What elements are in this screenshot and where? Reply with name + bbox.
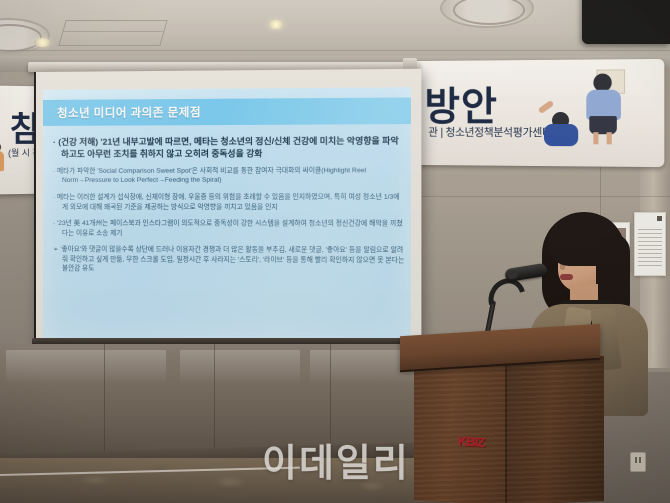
projection-screen: 청소년 미디어 과의존 문제점 · (건강 저해) '21년 내부고발에 따르면…: [36, 69, 421, 348]
banner-illustration-icon: [530, 67, 627, 160]
slide-bullet: ➢ '좋아요'와 댓글이 많을수록 상단에 드러나 이용자간 경쟁과 더 많은 …: [53, 245, 405, 275]
podium-front-left: [414, 357, 508, 503]
power-outlet-icon: [630, 452, 646, 472]
slide-title-text: 청소년 미디어 과의존 문제점: [57, 104, 201, 121]
podium-front-right: [506, 356, 604, 503]
event-banner-right: 방안 관 | 청소년정책분석평가센터: [415, 59, 664, 167]
ceiling-seam: [0, 50, 670, 51]
presentation-slide: 청소년 미디어 과의존 문제점 · (건강 저해) '21년 내부고발에 따르면…: [43, 87, 411, 341]
ceiling-access-panel: [58, 20, 167, 46]
wall-seam: [398, 196, 670, 197]
slide-bullet: · (건강 저해) '21년 내부고발에 따르면, 메타는 청소년의 정신/신체…: [53, 134, 405, 161]
ceiling-light-icon: [268, 20, 284, 29]
ceiling-vent-icon: [440, 0, 534, 28]
slide-bullet: · '23년 美 41개州는 페이스북과 인스타그램이 의도적으로 중독성이 강…: [53, 219, 405, 239]
slide-title-bar: 청소년 미디어 과의존 문제점: [43, 97, 411, 125]
ceiling-vent-icon: [0, 18, 50, 54]
banner-person-icon: [0, 142, 4, 172]
slide-bullet: · 메타는 이러한 설계가 섭식장애, 신체이형 장애, 우울증 등의 위험을 …: [53, 193, 405, 213]
conference-photo: 방안 관 | 청소년정책분석평가센터 참 (월 시 간 청소년 미디어 과의존 …: [0, 0, 670, 503]
podium-corner-edge: [505, 358, 507, 503]
ceiling-light-icon: [34, 38, 51, 47]
edaily-watermark: 이데일리: [262, 432, 410, 487]
kbiz-logo: KBIZ: [458, 433, 484, 449]
wall-mounted-display: [582, 0, 670, 44]
slide-bullet: · 메타가 파악한 'Social Comparison Sweet Spot'…: [53, 166, 405, 186]
slide-body: · (건강 저해) '21년 내부고발에 따르면, 메타는 청소년의 정신/신체…: [53, 134, 405, 282]
